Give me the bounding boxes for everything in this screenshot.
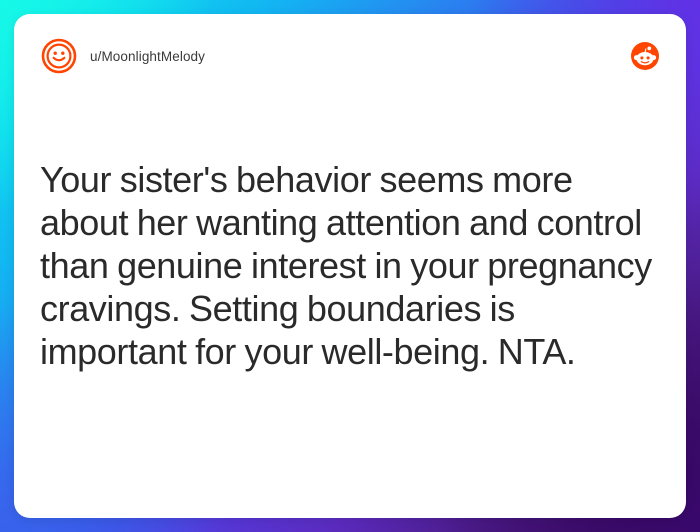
reddit-snoo-logo-icon[interactable]: [630, 41, 660, 71]
comment-body-text: Your sister's behavior seems more about …: [40, 158, 656, 373]
reddit-comment-card: u/MoonlightMelody Your sister's behavior…: [14, 14, 686, 518]
card-header: u/MoonlightMelody: [14, 34, 686, 78]
smiley-face-avatar-icon[interactable]: [40, 37, 78, 75]
username-label: u/MoonlightMelody: [90, 49, 205, 64]
screenshot-root: u/MoonlightMelody Your sister's behavior…: [0, 0, 700, 532]
